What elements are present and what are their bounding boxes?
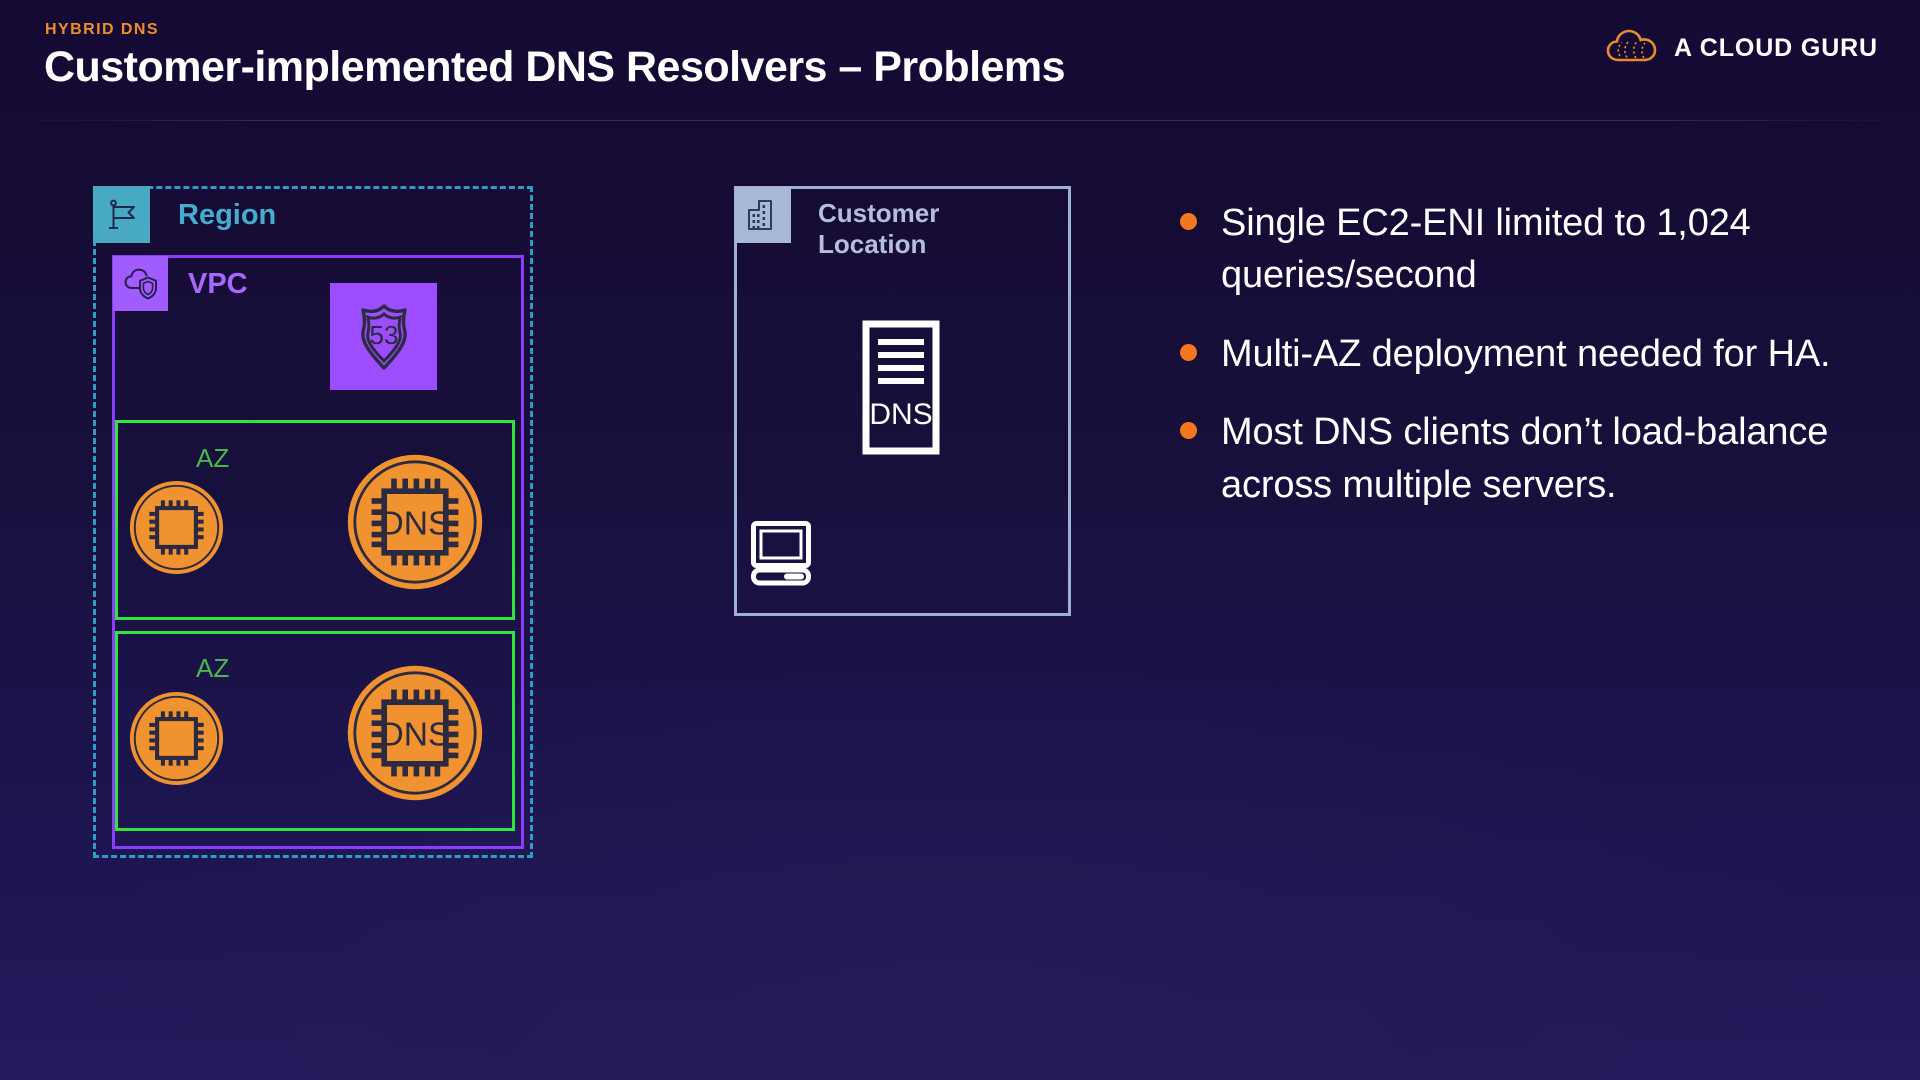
customer-location-label: Customer Location bbox=[818, 198, 1028, 259]
brand-logo: A CLOUD GURU bbox=[1606, 28, 1878, 69]
ec2-instance-icon bbox=[128, 690, 225, 787]
region-label: Region bbox=[178, 199, 276, 232]
ec2-dns-label: DNS bbox=[380, 717, 451, 754]
az-label: AZ bbox=[196, 443, 229, 474]
bullet-dot-icon bbox=[1180, 344, 1197, 361]
route53-shield-icon: 53 bbox=[330, 283, 437, 390]
bullet-text: Most DNS clients don’t load-balance acro… bbox=[1221, 406, 1840, 511]
list-item: Single EC2-ENI limited to 1,024 queries/… bbox=[1180, 197, 1840, 302]
bullet-text: Multi-AZ deployment needed for HA. bbox=[1221, 328, 1830, 380]
slide-header: HYBRID DNS Customer-implemented DNS Reso… bbox=[0, 0, 1920, 122]
ec2-dns-instance-icon: DNS bbox=[345, 452, 485, 592]
vpc-label: VPC bbox=[188, 268, 248, 301]
route53-number: 53 bbox=[369, 320, 398, 350]
bullet-text: Single EC2-ENI limited to 1,024 queries/… bbox=[1221, 197, 1840, 302]
dns-server-label: DNS bbox=[869, 398, 932, 431]
header-divider bbox=[40, 120, 1881, 121]
ec2-dns-instance-icon: DNS bbox=[345, 663, 485, 803]
list-item: Most DNS clients don’t load-balance acro… bbox=[1180, 406, 1840, 511]
slide-eyebrow: HYBRID DNS bbox=[45, 21, 159, 39]
bullet-dot-icon bbox=[1180, 213, 1197, 230]
building-icon bbox=[735, 187, 791, 243]
az-label: AZ bbox=[196, 653, 229, 684]
bullet-dot-icon bbox=[1180, 422, 1197, 439]
ec2-dns-label: DNS bbox=[380, 506, 451, 543]
dns-server-icon: DNS bbox=[862, 320, 940, 455]
ec2-instance-icon bbox=[128, 479, 225, 576]
page-title: Customer-implemented DNS Resolvers – Pro… bbox=[44, 43, 1065, 92]
list-item: Multi-AZ deployment needed for HA. bbox=[1180, 328, 1840, 380]
brand-logo-text: A CLOUD GURU bbox=[1674, 34, 1878, 63]
bullet-list: Single EC2-ENI limited to 1,024 queries/… bbox=[1180, 197, 1840, 537]
desktop-computer-icon bbox=[750, 520, 822, 586]
flag-icon bbox=[93, 186, 150, 243]
cloud-icon bbox=[1606, 28, 1658, 69]
cloud-shield-icon bbox=[113, 256, 168, 311]
